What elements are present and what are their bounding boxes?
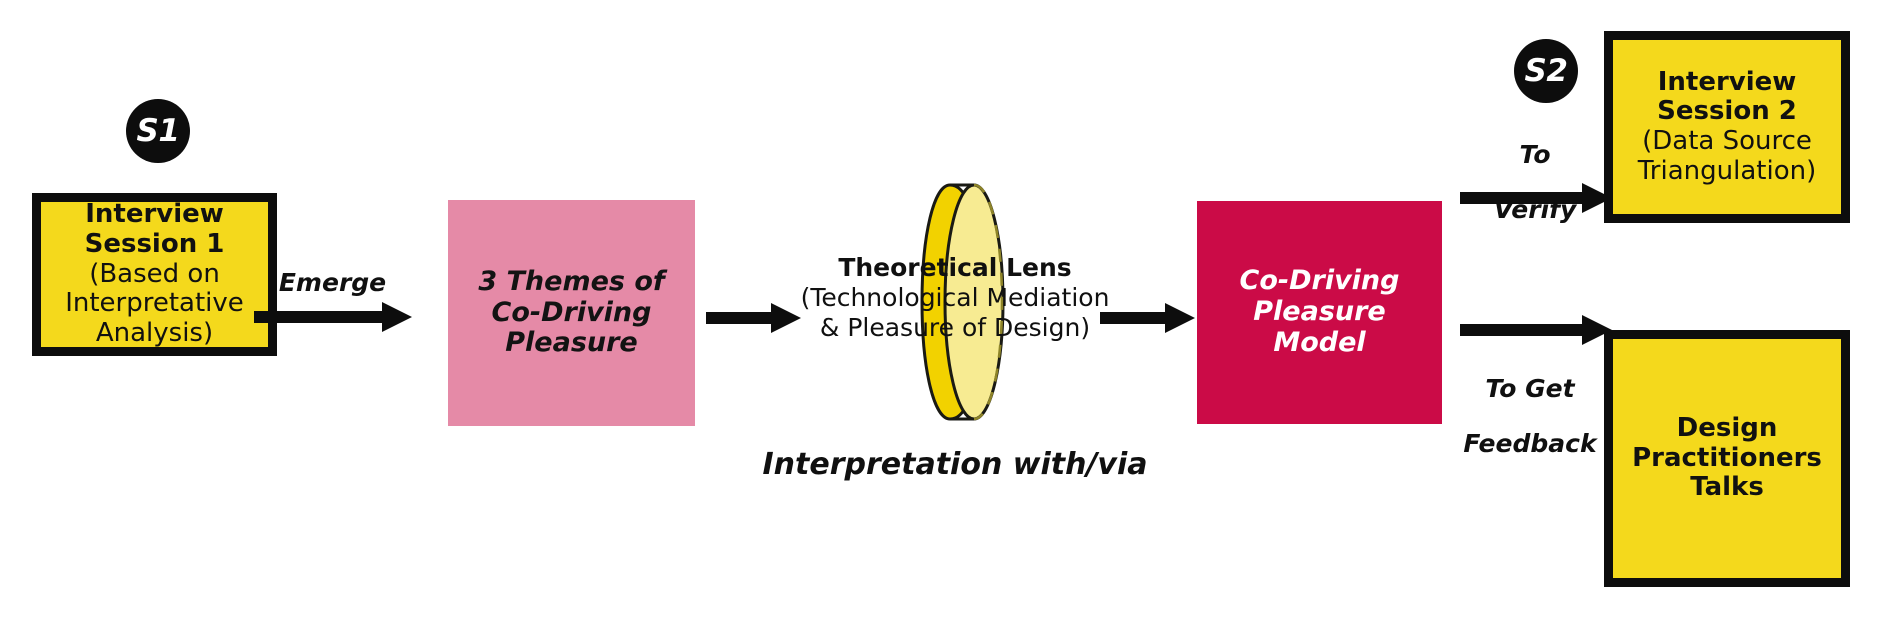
box-interview-session-1-text: Interview Session 1 (Based on Interpreta… xyxy=(41,200,268,348)
theoretical-lens-text: Theoretical Lens (Technological Mediatio… xyxy=(700,253,1210,343)
box1-line5: Analysis) xyxy=(47,319,262,349)
box-interview-session-1[interactable]: Interview Session 1 (Based on Interpreta… xyxy=(32,193,277,356)
box2-line1: 3 Themes of xyxy=(454,267,689,298)
box4-line1: Interview xyxy=(1619,68,1835,98)
box-practitioner-talks-text: Design Practitioners Talks xyxy=(1613,414,1841,503)
box1-line2: Session 1 xyxy=(47,230,262,260)
box-three-themes-text: 3 Themes of Co-Driving Pleasure xyxy=(448,267,695,359)
badge-s1: S1 xyxy=(126,99,190,163)
badge-s2-label: S2 xyxy=(1525,53,1568,89)
label-to-get-feedback: To Get Feedback xyxy=(1440,347,1620,485)
label-to-verify-line1: To xyxy=(1455,141,1615,169)
badge-s1-label: S1 xyxy=(137,113,180,149)
label-emerge: Emerge xyxy=(245,269,420,297)
lens-subtitle-line2: & Pleasure of Design) xyxy=(700,313,1210,343)
arrow-to-get-feedback xyxy=(1460,313,1612,347)
box1-line1: Interview xyxy=(47,200,262,230)
box-design-practitioners-talks[interactable]: Design Practitioners Talks xyxy=(1604,330,1850,587)
box5-line2: Practitioners xyxy=(1619,444,1835,474)
box2-line2: Co-Driving xyxy=(454,298,689,329)
arrow-to-verify xyxy=(1460,181,1612,215)
box-interview-session-2[interactable]: Interview Session 2 (Data Source Triangu… xyxy=(1604,31,1850,223)
badge-s2: S2 xyxy=(1514,39,1578,103)
lens-subtitle-line1: (Technological Mediation xyxy=(700,283,1210,313)
box1-line3: (Based on xyxy=(47,260,262,290)
lens-title: Theoretical Lens xyxy=(700,253,1210,283)
diagram-canvas: S1 Interview Session 1 (Based on Interpr… xyxy=(0,0,1881,621)
label-to-get-feedback-line2: Feedback xyxy=(1440,430,1620,458)
box4-line4: Triangulation) xyxy=(1619,157,1835,187)
box3-line3: Model xyxy=(1203,328,1436,359)
label-to-get-feedback-line1: To Get xyxy=(1440,375,1620,403)
box5-line1: Design xyxy=(1619,414,1835,444)
box1-line4: Interpretative xyxy=(47,289,262,319)
box4-line3: (Data Source xyxy=(1619,127,1835,157)
box-model-text: Co-Driving Pleasure Model xyxy=(1197,266,1442,358)
box-three-themes[interactable]: 3 Themes of Co-Driving Pleasure xyxy=(448,200,695,426)
box5-line3: Talks xyxy=(1619,473,1835,503)
box-interview-session-2-text: Interview Session 2 (Data Source Triangu… xyxy=(1613,68,1841,187)
box2-line3: Pleasure xyxy=(454,328,689,359)
arrow-emerge xyxy=(254,300,412,334)
box3-line2: Pleasure xyxy=(1203,297,1436,328)
box4-line2: Session 2 xyxy=(1619,97,1835,127)
box-co-driving-pleasure-model[interactable]: Co-Driving Pleasure Model xyxy=(1197,201,1442,424)
label-interpretation-with-via: Interpretation with/via xyxy=(700,448,1210,481)
box3-line1: Co-Driving xyxy=(1203,266,1436,297)
